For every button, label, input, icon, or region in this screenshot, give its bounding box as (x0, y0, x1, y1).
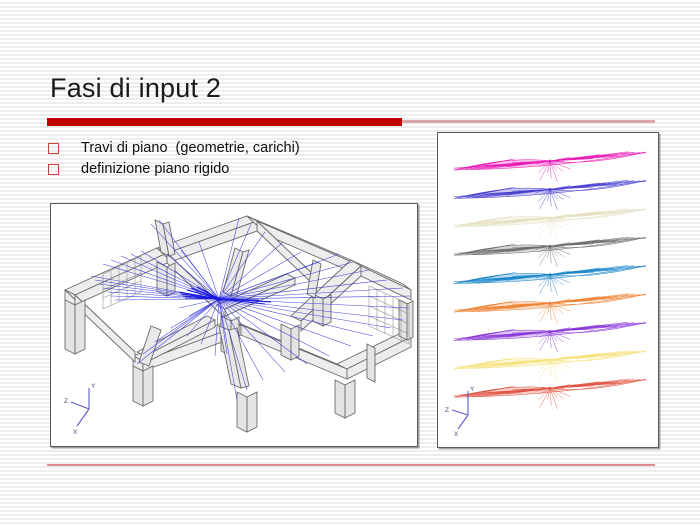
diaphragm-level (454, 152, 646, 182)
diaphragm-levels-svg: Z Y X (438, 133, 658, 447)
master-node-marker (549, 216, 552, 219)
square-bullet-icon (48, 164, 59, 175)
list-item-label: Travi di piano (geometrie, carichi) (81, 138, 300, 159)
master-node-marker (549, 387, 552, 390)
level-group (454, 152, 646, 409)
diaphragm-level (454, 209, 646, 239)
square-bullet-icon (48, 143, 59, 154)
diaphragm-level (454, 265, 646, 295)
diaphragm-level (454, 322, 646, 352)
footer-divider (47, 464, 655, 466)
master-node-marker (549, 358, 552, 361)
title-divider-strong (47, 118, 402, 126)
master-node-marker (549, 302, 552, 305)
master-node-marker (217, 297, 220, 300)
diaphragm-level (454, 180, 646, 210)
figure-floor-beam-3d-model: Z Y X (50, 203, 418, 447)
master-node-marker (549, 160, 552, 163)
axis-label-x: X (73, 429, 78, 436)
diaphragm-level (454, 294, 646, 324)
axis-label-z: Z (445, 407, 449, 414)
axis-label-z: Z (64, 398, 68, 405)
axis-label-y: Y (470, 386, 475, 393)
master-node-marker (549, 245, 552, 248)
master-node-marker (549, 330, 552, 333)
diaphragm-level (454, 379, 646, 409)
diaphragm-level (454, 237, 646, 267)
title-divider-thin (402, 120, 655, 123)
floor-beam-3d-svg: Z Y X (51, 204, 417, 446)
page-title: Fasi di input 2 (50, 73, 221, 104)
master-node-marker (549, 188, 552, 191)
bullet-list: Travi di piano (geometrie, carichi) defi… (48, 138, 428, 180)
master-node-marker (549, 273, 552, 276)
axis-label-y: Y (91, 383, 96, 390)
figure-rigid-diaphragm-levels: Z Y X (437, 132, 659, 448)
axis-label-x: X (454, 431, 459, 438)
list-item: definizione piano rigido (48, 159, 428, 180)
list-item: Travi di piano (geometrie, carichi) (48, 138, 428, 159)
axis-triad: Z Y X (64, 383, 96, 436)
list-item-label: definizione piano rigido (81, 159, 229, 180)
slide-canvas: Fasi di input 2 Travi di piano (geometri… (0, 0, 700, 525)
title-divider (47, 118, 655, 126)
diaphragm-level (454, 351, 646, 381)
